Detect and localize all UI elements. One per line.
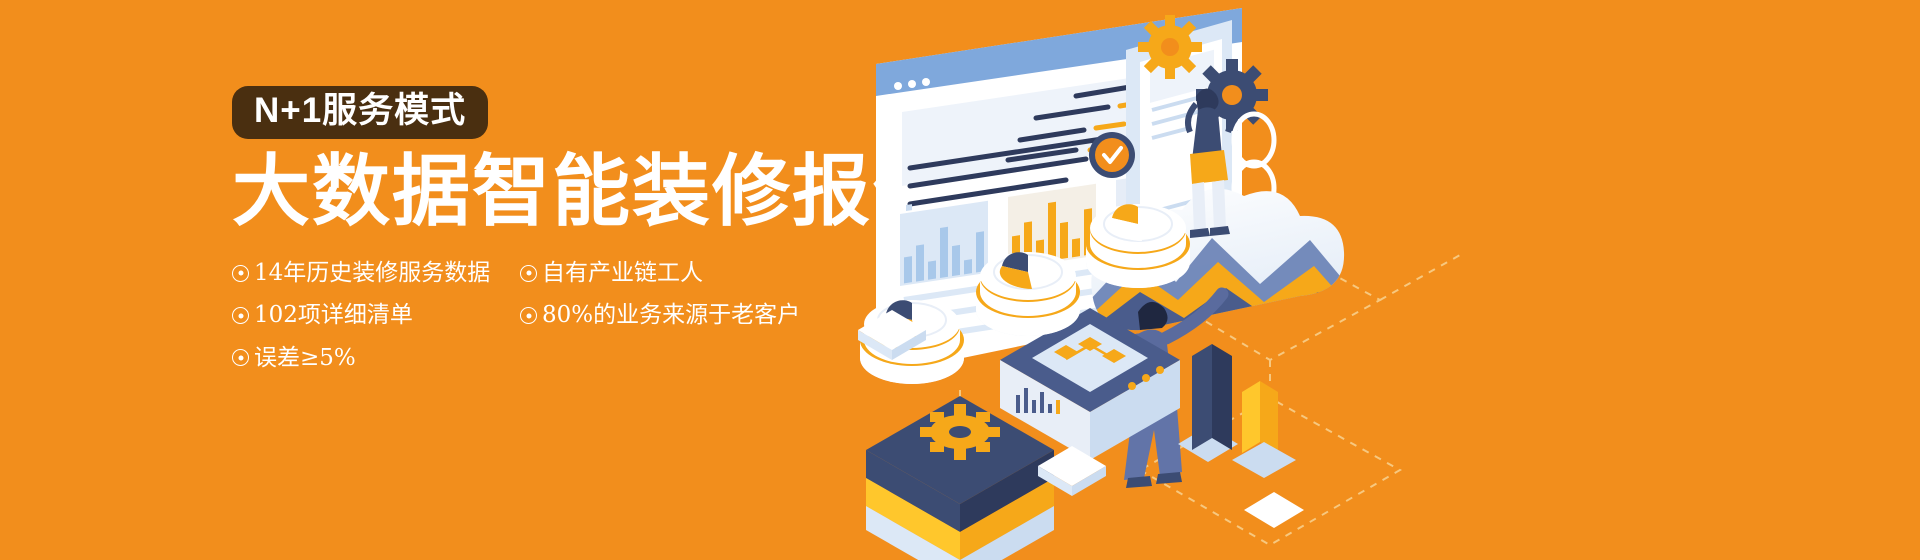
circled-dot-icon — [232, 307, 249, 324]
list-item-label: 102项详细清单 — [254, 302, 413, 328]
bar-chart-blocks — [1178, 344, 1296, 478]
circled-dot-icon — [520, 307, 537, 324]
service-model-badge: N+1服务模式 — [232, 86, 488, 139]
list-item-label: 80%的业务来源于老客户 — [542, 302, 800, 328]
list-item: 102项详细清单 — [232, 302, 494, 328]
isometric-big-data-illustration — [840, 0, 1920, 560]
list-item-label: 误差≥5% — [254, 345, 356, 371]
list-item-label: 自有产业链工人 — [542, 260, 703, 286]
circled-dot-icon — [520, 265, 537, 282]
gear-amber — [1138, 15, 1202, 79]
check-badge — [1089, 132, 1135, 178]
bullet-column-right: 自有产业链工人 80%的业务来源于老客户 — [520, 260, 820, 371]
list-item: 14年历史装修服务数据 — [232, 260, 494, 286]
list-item: 80%的业务来源于老客户 — [520, 302, 820, 328]
bullet-column-left: 14年历史装修服务数据 102项详细清单 误差≥5% — [232, 260, 494, 371]
promo-banner: N+1服务模式 大数据智能装修报价 14年历史装修服务数据 102项详细清单 误… — [0, 0, 1920, 560]
list-item: 误差≥5% — [232, 345, 494, 371]
circled-dot-icon — [232, 265, 249, 282]
circled-dot-icon — [232, 349, 249, 366]
list-item: 自有产业链工人 — [520, 260, 820, 286]
list-item-label: 14年历史装修服务数据 — [254, 260, 490, 286]
